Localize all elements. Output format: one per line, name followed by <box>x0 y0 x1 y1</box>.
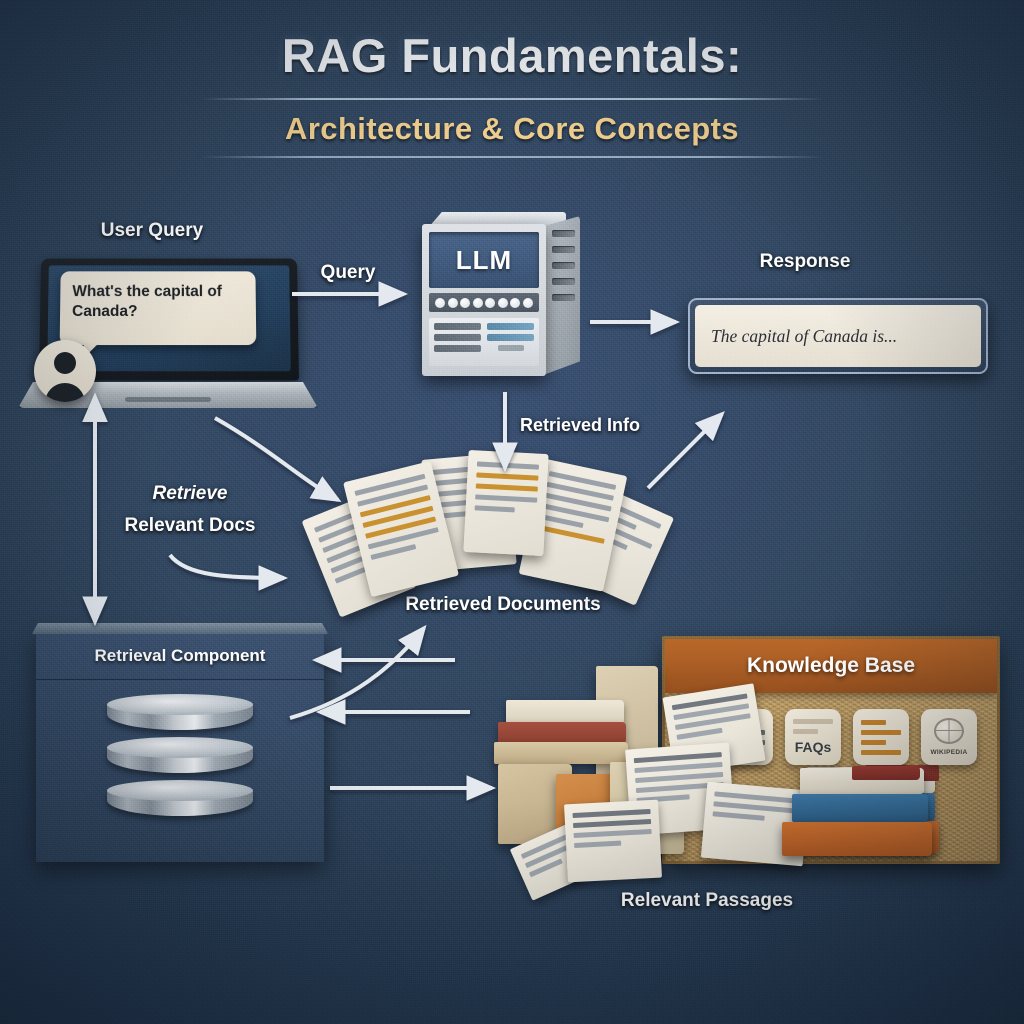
retrieval-component-header: Retrieval Component <box>36 632 324 680</box>
led-indicator <box>510 298 520 308</box>
docs-to-response-arrow <box>648 414 722 488</box>
title-divider-bottom <box>200 156 824 158</box>
drive-bay-small <box>498 345 524 351</box>
user-query-label: User Query <box>101 220 203 242</box>
drive-bay-active <box>487 323 534 330</box>
book-tan <box>494 742 628 764</box>
wikipedia-globe-icon <box>934 718 964 744</box>
document-tile[interactable] <box>717 709 773 765</box>
knowledge-base-panel[interactable]: Knowledge Base FAQs WIKIPE <box>662 636 1000 864</box>
book-red-cover <box>865 765 939 781</box>
page-title: RAG Fundamentals: <box>0 28 1024 83</box>
avatar-body-icon <box>45 383 85 402</box>
response-inner: The capital of Canada is... <box>695 305 981 367</box>
drive-bay <box>434 334 481 341</box>
vent-slot <box>552 262 575 269</box>
page-subtitle: Architecture & Core Concepts <box>0 111 1024 147</box>
box-tall-beige <box>596 666 658 782</box>
response-label: Response <box>760 251 851 273</box>
knowledge-base-tiles: FAQs WIKIPEDIA <box>665 693 997 765</box>
llm-server[interactable]: LLM <box>422 212 580 380</box>
user-query-laptop[interactable]: What's the capital of Canada? <box>18 258 318 408</box>
rag-diagram-canvas: RAG Fundamentals: Architecture & Core Co… <box>0 0 1024 1024</box>
led-indicator <box>523 298 533 308</box>
retrieved-documents-fan[interactable] <box>318 452 648 622</box>
edge-label-relevant-docs: Relevant Docs <box>125 515 256 537</box>
llm-display-panel: LLM <box>429 232 539 288</box>
response-box[interactable]: The capital of Canada is... <box>688 298 988 374</box>
vent-slot <box>552 278 575 285</box>
led-indicator <box>460 298 470 308</box>
vent-slot <box>552 294 575 301</box>
highlighted-document-tile[interactable] <box>853 709 909 765</box>
database-disc <box>107 737 253 775</box>
server-side-vents <box>546 216 580 374</box>
book-cream-top <box>506 700 624 724</box>
faqs-tile[interactable]: FAQs <box>785 709 841 765</box>
vent-slot <box>552 246 575 253</box>
knowledge-base-header: Knowledge Base <box>665 639 997 693</box>
drive-bay <box>434 345 481 352</box>
led-indicator <box>448 298 458 308</box>
retrieval-component-panel[interactable]: Retrieval Component <box>36 632 324 862</box>
led-indicator <box>435 298 445 308</box>
edge-label-retrieve: Retrieve <box>153 483 228 505</box>
drive-bay-active <box>487 334 534 341</box>
query-speech-bubble: What's the capital of Canada? <box>60 271 257 345</box>
laptop-trackpad <box>125 397 211 402</box>
book-orange <box>783 821 939 853</box>
user-avatar <box>34 340 96 402</box>
book-blue <box>795 793 935 821</box>
drive-bay <box>434 323 481 330</box>
passage-sheet <box>510 819 600 900</box>
edge-label-query: Query <box>321 262 376 284</box>
database-disc <box>107 780 253 818</box>
edge-label-retrieved-info: Retrieved Info <box>520 415 640 436</box>
server-drive-bays <box>429 318 539 366</box>
database-cylinder-icon <box>107 694 253 823</box>
query-bubble-text: What's the capital of Canada? <box>72 283 222 320</box>
relevant-docs-arrow <box>170 555 284 578</box>
avatar-head-icon <box>54 352 76 374</box>
title-divider-top <box>200 98 824 100</box>
llm-label: LLM <box>456 245 512 276</box>
wikipedia-tile-label: WIKIPEDIA <box>930 749 967 756</box>
document-card-highlighted <box>463 450 548 556</box>
led-indicator <box>473 298 483 308</box>
led-indicator <box>498 298 508 308</box>
led-indicator <box>485 298 495 308</box>
knowledge-base-label: Knowledge Base <box>747 654 915 678</box>
panel-top-edge <box>32 623 328 634</box>
response-text: The capital of Canada is... <box>711 326 897 347</box>
faqs-tile-label: FAQs <box>795 739 832 755</box>
passage-sheet <box>564 800 662 883</box>
retrieval-component-label: Retrieval Component <box>95 646 266 666</box>
book-red-spine <box>498 722 626 744</box>
relevant-passages-label: Relevant Passages <box>621 890 793 912</box>
box-kraft-left <box>498 764 572 844</box>
server-led-row <box>429 293 539 312</box>
wikipedia-tile[interactable]: WIKIPEDIA <box>921 709 977 765</box>
database-disc <box>107 694 253 732</box>
box-orange-left <box>556 774 616 844</box>
vent-slot <box>552 230 575 237</box>
server-front-face: LLM <box>422 224 546 376</box>
